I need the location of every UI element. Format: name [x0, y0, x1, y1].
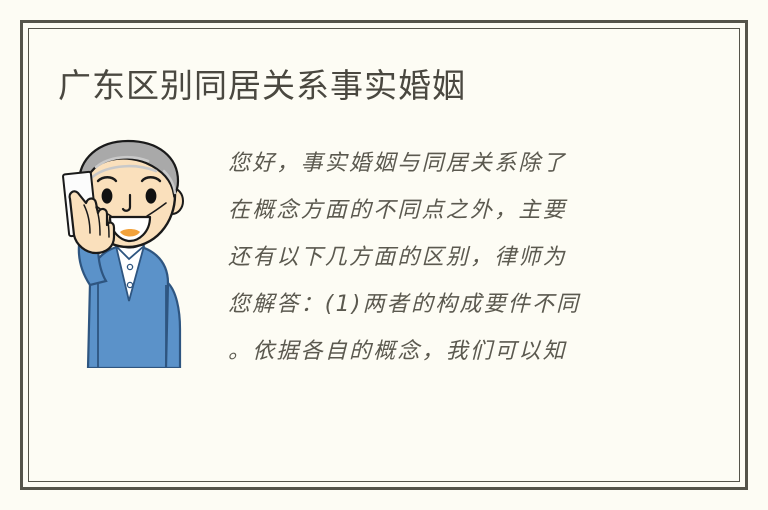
eye-left [102, 188, 113, 203]
body-line: 您好，事实婚姻与同居关系除了 [228, 140, 668, 187]
body-line: 。依据各自的概念，我们可以知 [228, 328, 668, 375]
eye-right [146, 188, 157, 203]
article-body: 您好，事实婚姻与同居关系除了 在概念方面的不同点之外，主要 还有以下几方面的区别… [228, 140, 668, 375]
body-line: 还有以下几方面的区别，律师为 [228, 234, 668, 281]
page-title: 广东区别同居关系事实婚姻 [58, 66, 466, 106]
body-line: 在概念方面的不同点之外，主要 [228, 187, 668, 234]
body-line: 您解答：(1)两者的构成要件不同 [228, 281, 668, 328]
page-content: 广东区别同居关系事实婚姻 [28, 28, 740, 482]
illustration-elderly-man-on-phone [54, 133, 204, 368]
article-page: 广东区别同居关系事实婚姻 [0, 0, 768, 510]
